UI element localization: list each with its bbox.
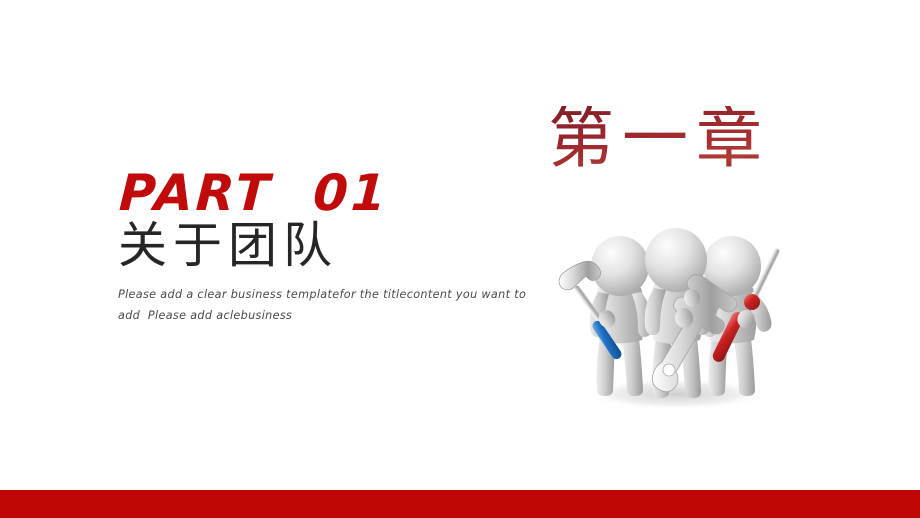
body-paragraph: Please add a clear business templatefor … — [118, 285, 528, 326]
three-figures-illustration — [556, 222, 796, 422]
bottom-red-band — [0, 490, 920, 518]
chinese-subtitle: 关于团队 — [118, 220, 548, 273]
part-label: PART 01 — [118, 168, 551, 218]
left-text-block: PART 01 关于团队 Please add a clear business… — [118, 168, 548, 326]
figure-left — [559, 236, 652, 396]
chapter-heading: 第一章 — [548, 106, 770, 172]
slide-canvas: PART 01 关于团队 Please add a clear business… — [0, 0, 920, 518]
